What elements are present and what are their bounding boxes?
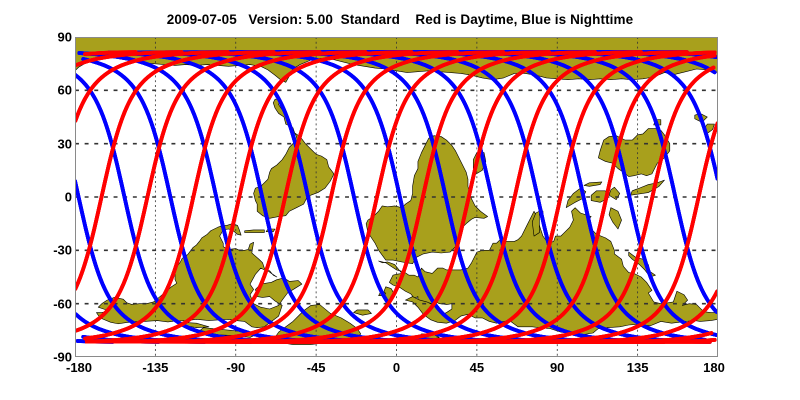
plot-area — [75, 37, 718, 357]
xtick-135: 135 — [627, 360, 649, 375]
ytick--30: -30 — [6, 243, 72, 258]
x-axis-ticks: -180 -135 -90 -45 0 45 90 135 180 — [0, 360, 800, 382]
xtick-0: 0 — [393, 360, 400, 375]
track-segment — [567, 52, 717, 178]
track-segment — [567, 52, 717, 178]
ytick-90: 90 — [6, 30, 72, 45]
ytick-30: 30 — [6, 136, 72, 151]
xtick--135: -135 — [142, 360, 168, 375]
plot-title: 2009-07-05 Version: 5.00 Standard Red is… — [0, 12, 800, 27]
y-axis-ticks: 90 60 30 0 -30 -60 -90 — [0, 0, 72, 400]
xtick--180: -180 — [66, 360, 92, 375]
ytick--60: -60 — [6, 296, 72, 311]
ground-tracks — [75, 37, 718, 357]
track-segment — [83, 59, 342, 342]
xtick-90: 90 — [550, 360, 564, 375]
track-segment — [83, 59, 342, 342]
ground-track-figure: 2009-07-05 Version: 5.00 Standard Red is… — [0, 0, 800, 400]
xtick--45: -45 — [307, 360, 326, 375]
xtick--90: -90 — [226, 360, 245, 375]
track-segment — [567, 52, 717, 178]
track-segment — [83, 59, 342, 342]
ytick-60: 60 — [6, 83, 72, 98]
ytick-0: 0 — [6, 190, 72, 205]
xtick-45: 45 — [470, 360, 484, 375]
track-segment — [475, 52, 716, 335]
xtick-180: 180 — [703, 360, 725, 375]
